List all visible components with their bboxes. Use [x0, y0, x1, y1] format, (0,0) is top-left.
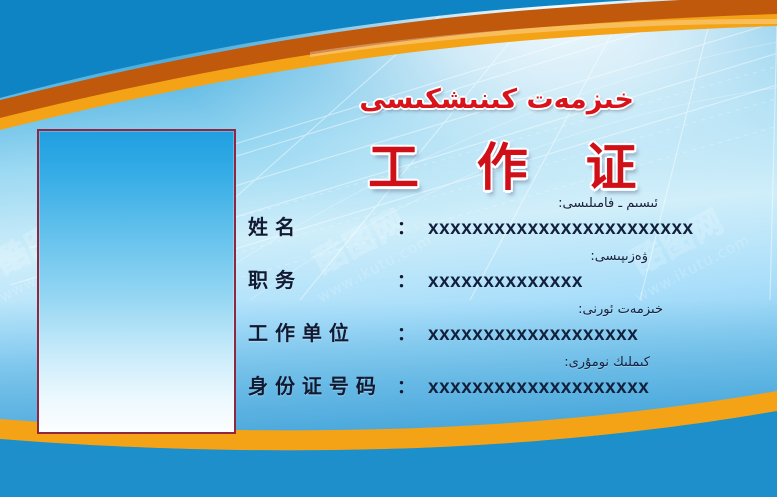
field-label-chinese-position: 职 务 [248, 265, 396, 295]
field-colon-name: ： [397, 214, 415, 244]
field-value-work-unit[interactable]: xxxxxxxxxxxxxxxxxxx [428, 320, 638, 350]
field-row-id-number: كىملىك نومۇرى: 身 份 证 号 码 ： xxxxxxxxxxxxx… [248, 354, 768, 403]
field-label-uyghur-id-number: كىملىك نومۇرى: [248, 354, 768, 371]
field-label-chinese-name: 姓 名 [248, 212, 396, 242]
field-row-work-unit: خىزمەت ئورنى: 工 作 单 位 ： xxxxxxxxxxxxxxxx… [248, 301, 768, 350]
field-row-name: ئىسىم ـ فامىلىسى: 姓 名 ： xxxxxxxxxxxxxxxx… [248, 195, 768, 244]
field-list: ئىسىم ـ فامىلىسى: 姓 名 ： xxxxxxxxxxxxxxxx… [248, 195, 768, 407]
field-label-chinese-work-unit: 工 作 单 位 [248, 318, 396, 348]
field-label-uyghur-work-unit: خىزمەت ئورنى: [248, 301, 768, 318]
field-value-position[interactable]: xxxxxxxxxxxxxx [428, 267, 583, 297]
field-colon-id-number: ： [397, 373, 415, 403]
field-colon-position: ： [397, 267, 415, 297]
photo-placeholder[interactable] [37, 129, 236, 434]
field-label-chinese-id-number: 身 份 证 号 码 [248, 371, 396, 401]
field-label-uyghur-position: ۋەزىپىسى: [248, 248, 768, 265]
card-title-uyghur: خىزمەت كىنىشكىسى [359, 84, 634, 115]
field-value-id-number[interactable]: xxxxxxxxxxxxxxxxxxxx [428, 373, 649, 403]
id-card-template: 酷图网 www.ikutu.com 酷图网 www.ikutu.com 酷图网 … [0, 0, 777, 497]
field-label-uyghur-name: ئىسىم ـ فامىلىسى: [248, 195, 768, 212]
field-row-position: ۋەزىپىسى: 职 务 ： xxxxxxxxxxxxxx [248, 248, 768, 297]
card-title-chinese: 工 作 证 [368, 126, 657, 200]
field-colon-work-unit: ： [397, 320, 415, 350]
field-value-name[interactable]: xxxxxxxxxxxxxxxxxxxxxxxx [428, 214, 694, 244]
